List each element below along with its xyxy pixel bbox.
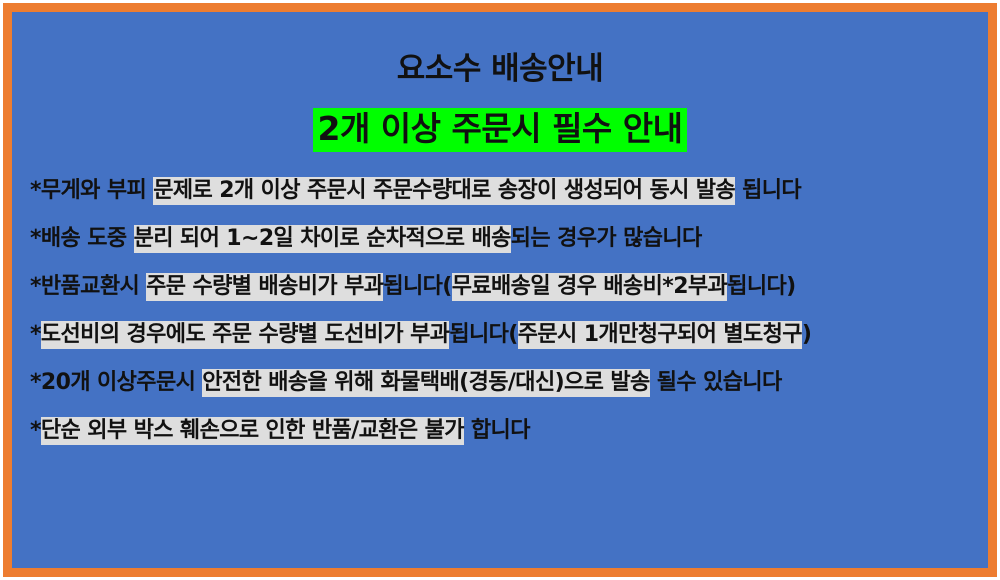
shipping-notice-card: 요소수 배송안내 2개 이상 주문시 필수 안내 *무게와 부피 문제로 2개 …	[0, 0, 1000, 580]
plain-text: 되는 경우가 많습니다	[511, 226, 702, 251]
island-fee-notice: *도선비의 경우에도 주문 수량별 도선비가 부과됩니다(주문시 1개만청구되어…	[30, 322, 978, 348]
title-block: 요소수 배송안내	[12, 12, 988, 86]
highlighted-text: 문제로 2개 이상 주문시 주문수량대로 송장이 생성되어 동시 발송	[153, 177, 735, 205]
page-title: 요소수 배송안내	[397, 52, 603, 86]
highlighted-text: 단순 외부 박스 훼손으로 인한 반품/교환은 불가	[41, 417, 464, 445]
plain-text: *무게와 부피	[30, 178, 153, 203]
plain-text: *	[30, 418, 41, 443]
highlighted-text: 안전한 배송을 위해 화물택배(경동/대신)으로 발송	[202, 369, 649, 397]
plain-text: 합니다	[464, 418, 530, 443]
return-exchange-fee-notice: *반품교환시 주문 수량별 배송비가 부과됩니다(무료배송일 경우 배송비*2부…	[30, 274, 978, 300]
plain-text: *20개 이상주문시	[30, 370, 202, 395]
highlighted-text: 주문 수량별 배송비가 부과	[146, 273, 383, 301]
highlighted-text: 주문시 1개만청구되어 별도청구	[518, 321, 802, 349]
plain-text: *반품교환시	[30, 274, 146, 299]
notice-list: *무게와 부피 문제로 2개 이상 주문시 주문수량대로 송장이 생성되어 동시…	[12, 178, 988, 444]
plain-text: 됩니다(	[383, 274, 451, 299]
box-damage-notice: *단순 외부 박스 훼손으로 인한 반품/교환은 불가 합니다	[30, 418, 978, 444]
plain-text: 될수 있습니다	[650, 370, 782, 395]
subtitle-block: 2개 이상 주문시 필수 안내	[12, 108, 988, 152]
plain-text: *	[30, 322, 41, 347]
highlighted-text: 분리 되어 1~2일 차이로 순차적으로 배송	[134, 225, 511, 253]
split-shipping-notice: *배송 도중 분리 되어 1~2일 차이로 순차적으로 배송되는 경우가 많습니…	[30, 226, 978, 252]
highlighted-text: 도선비의 경우에도 주문 수량별 도선비가 부과	[41, 321, 449, 349]
plain-text: 됩니다(	[449, 322, 517, 347]
subtitle-banner: 2개 이상 주문시 필수 안내	[313, 108, 686, 152]
notice-frame: 요소수 배송안내 2개 이상 주문시 필수 안내 *무게와 부피 문제로 2개 …	[3, 3, 997, 577]
plain-text: 됩니다	[735, 178, 801, 203]
plain-text: )	[802, 322, 811, 347]
weight-volume-notice: *무게와 부피 문제로 2개 이상 주문시 주문수량대로 송장이 생성되어 동시…	[30, 178, 978, 204]
highlighted-text: 무료배송일 경우 배송비*2부과	[452, 273, 727, 301]
plain-text: *배송 도중	[30, 226, 134, 251]
plain-text: 됩니다)	[727, 274, 795, 299]
bulk-order-freight-notice: *20개 이상주문시 안전한 배송을 위해 화물택배(경동/대신)으로 발송 될…	[30, 370, 978, 396]
